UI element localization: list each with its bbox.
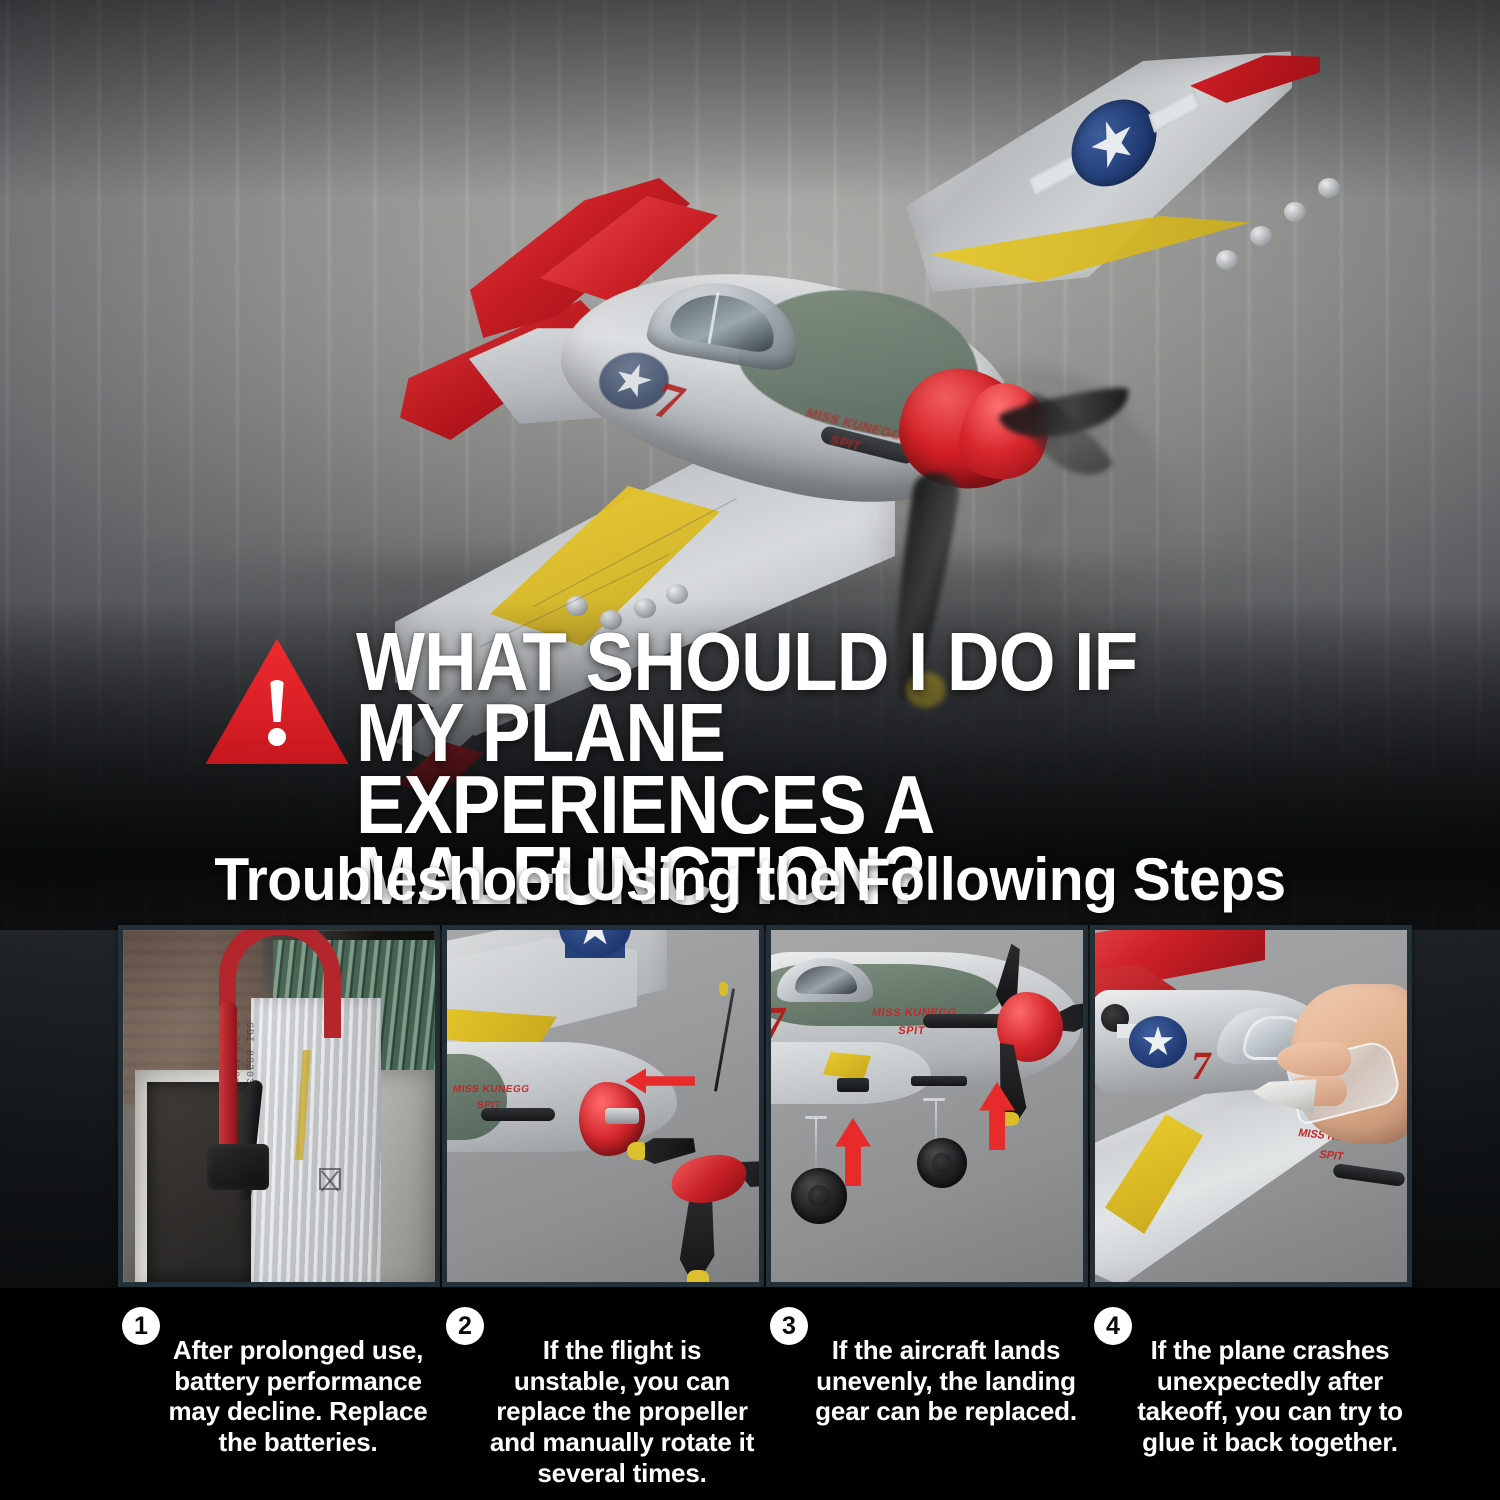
warning-triangle-icon: [204, 636, 350, 768]
landing-gear-wheel: [791, 1168, 847, 1224]
step-card-4: 7 MISS KUNEGG SPIT 4 If the plane crashe…: [1090, 925, 1415, 1493]
landing-gear-wheel: [917, 1138, 967, 1188]
step-caption: If the aircraft lands unevenly, the land…: [810, 1335, 1082, 1427]
step-caption: After prolonged use, battery performance…: [162, 1335, 434, 1458]
step-card-2: MISS KUNEGG SPIT 2 If the flight: [442, 925, 767, 1493]
step-caption: If the plane crashes unexpectedly after …: [1134, 1335, 1406, 1458]
steps-row: SDI 802035 PRO 3.7V 400mAh 1.48Wh 241011…: [0, 925, 1500, 1500]
fuselage-roundel-icon: [1129, 1016, 1187, 1068]
step-4-image: 7 MISS KUNEGG SPIT: [1090, 925, 1412, 1287]
step-1-image: SDI 802035 PRO 3.7V 400mAh 1.48Wh 241011…: [118, 925, 440, 1287]
red-wire: [219, 925, 341, 1038]
step-2-image: MISS KUNEGG SPIT: [442, 925, 764, 1287]
step-number-badge: 2: [446, 1307, 484, 1345]
gear-mount: [911, 1076, 967, 1086]
step-number-badge: 1: [122, 1307, 160, 1345]
lipo-battery: [251, 998, 381, 1287]
detached-propeller: [633, 1098, 764, 1287]
step-card-1: SDI 802035 PRO 3.7V 400mAh 1.48Wh 241011…: [118, 925, 443, 1493]
step-caption: If the flight is unstable, you can repla…: [486, 1335, 758, 1488]
step-number-badge: 3: [770, 1307, 808, 1345]
troubleshooting-poster: 7 MISS KUNEGG SPIT WHAT SHOULD I DO IF M…: [0, 0, 1500, 1500]
recycle-icon: [319, 1168, 341, 1190]
gear-mount: [837, 1078, 869, 1092]
subtitle: Troubleshoot Using the Following Steps: [38, 845, 1463, 914]
step-3-image: 7 MISS KUNEGG SPIT: [766, 925, 1088, 1287]
headline-line-1: WHAT SHOULD I DO IF MY PLANE: [356, 615, 1137, 779]
step-card-3: 7 MISS KUNEGG SPIT: [766, 925, 1091, 1493]
step-number-badge: 4: [1094, 1307, 1132, 1345]
battery-connector: [207, 1144, 269, 1190]
